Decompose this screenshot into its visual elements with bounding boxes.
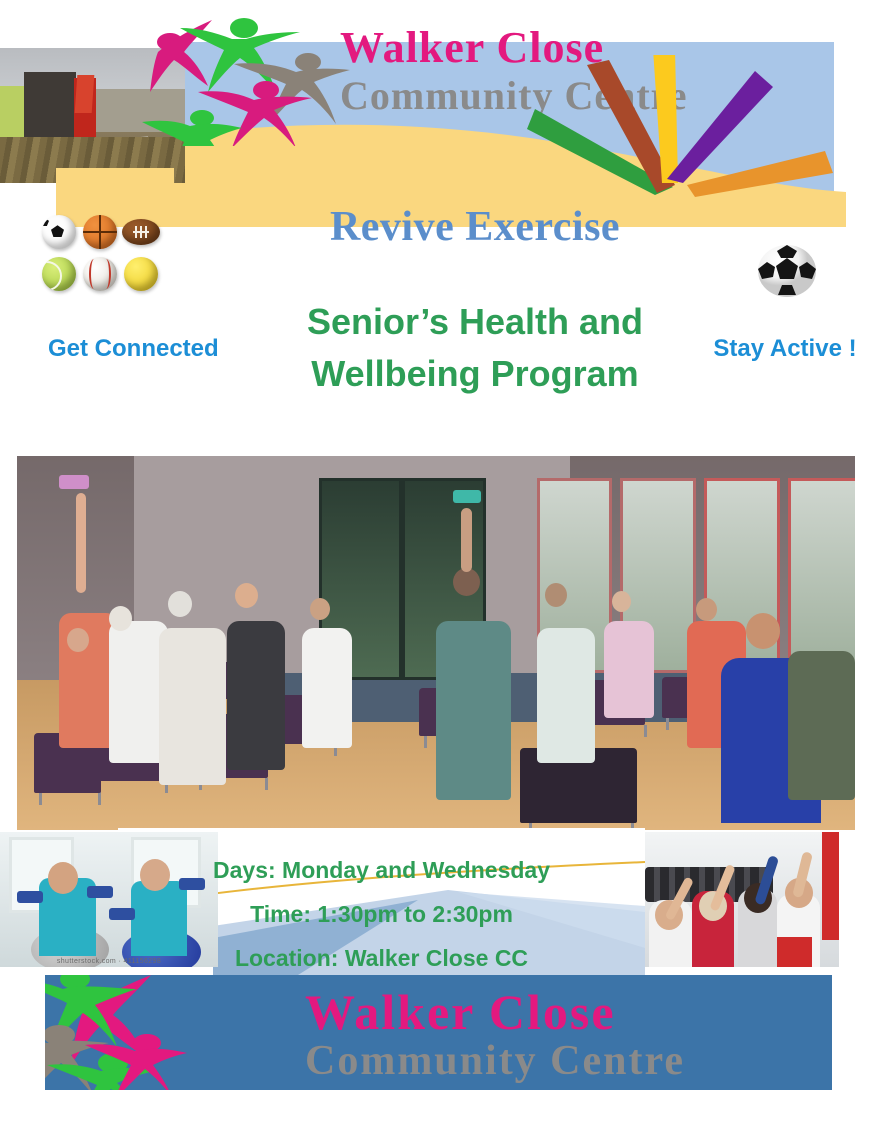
baseball-icon [83, 257, 117, 291]
footer-banner: Walker Close Community Centre [45, 975, 832, 1090]
soccer-ball-large-icon [756, 238, 818, 300]
detail-time: Time: 1:30pm to 2:30pm [118, 892, 645, 936]
people-celebrating-logo [140, 6, 350, 146]
detail-days: Days: Monday and Wednesday [118, 848, 645, 892]
sports-balls-group [40, 213, 160, 293]
basketball-icon [83, 215, 117, 249]
detail-location: Location: Walker Close CC [118, 936, 645, 975]
program-details-panel: Days: Monday and Wednesday Time: 1:30pm … [118, 828, 645, 975]
page-title: Senior’s Health and Wellbeing Program [250, 296, 700, 400]
colour-fan-rays [505, 55, 845, 200]
footer-org-subtitle: Community Centre [305, 1037, 832, 1085]
details-lines: Days: Monday and Wednesday Time: 1:30pm … [118, 848, 645, 975]
footer-org-title: Walker Close [305, 983, 832, 1041]
tennis-ball-icon [42, 257, 76, 291]
group-side-stretch-exercise-photo [645, 832, 839, 967]
program-title-line-1: Senior’s Health and [250, 296, 700, 348]
tagline-stay-active: Stay Active ! [690, 335, 880, 363]
program-name: Revive Exercise [255, 203, 695, 251]
header-yellow-tab [56, 168, 174, 210]
header-banner: Walker Close Community Centre [0, 0, 884, 225]
american-football-icon [122, 219, 160, 245]
tagline-get-connected: Get Connected [48, 335, 258, 363]
yellow-ball-icon [124, 257, 158, 291]
seniors-group-exercise-class-photo [17, 456, 855, 830]
people-celebrating-logo [45, 975, 265, 1090]
soccer-ball-icon [42, 215, 76, 249]
program-title-line-2: Wellbeing Program [250, 348, 700, 400]
